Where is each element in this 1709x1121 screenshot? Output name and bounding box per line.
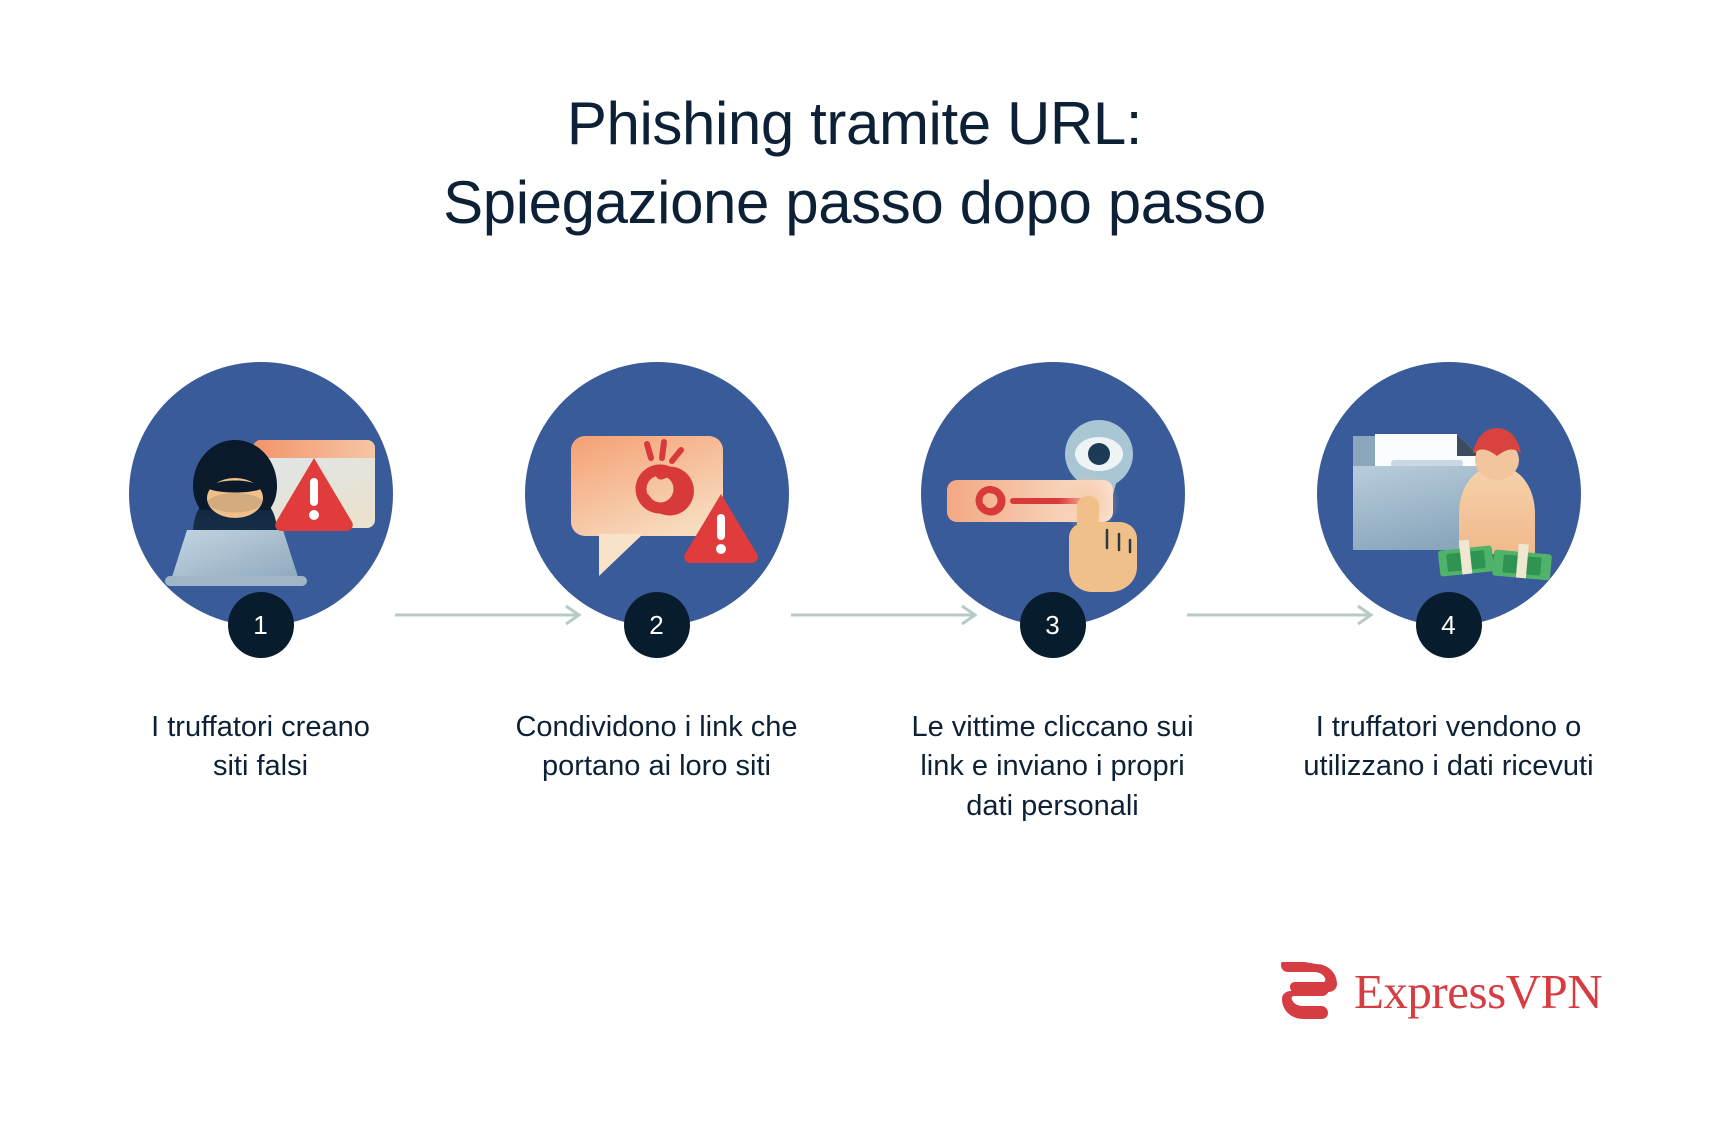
step-2: 2 Condividono i link che portano ai loro… <box>459 362 855 787</box>
expressvpn-logo-text: ExpressVPN <box>1354 967 1602 1016</box>
step-2-caption: Condividono i link che portano ai loro s… <box>472 708 842 787</box>
expressvpn-logo: ExpressVPN <box>1278 962 1602 1020</box>
step-1-caption: I truffatori creano siti falsi <box>76 708 446 787</box>
hacker-laptop-warning-icon <box>129 362 393 626</box>
url-bar-click-eye-icon <box>921 362 1185 626</box>
page-title: Phishing tramite URL: Spiegazione passo … <box>0 84 1709 242</box>
step-1-circle <box>129 362 393 626</box>
step-3-caption: Le vittime cliccano sui link e inviano i… <box>868 708 1238 826</box>
step-4-caption: I truffatori vendono o utilizzano i dati… <box>1264 708 1634 787</box>
step-4-badge: 4 <box>1416 592 1482 658</box>
step-3-badge: 3 <box>1020 592 1086 658</box>
step-3-circle <box>921 362 1185 626</box>
step-4-circle-wrap: 4 <box>1317 362 1581 626</box>
step-3-circle-wrap: 3 <box>921 362 1185 626</box>
step-4: 4 I truffatori vendono o utilizzano i da… <box>1251 362 1647 787</box>
step-3: 3 Le vittime cliccano sui link e inviano… <box>855 362 1251 826</box>
step-1-badge: 1 <box>228 592 294 658</box>
step-4-circle <box>1317 362 1581 626</box>
folder-thief-money-icon <box>1317 362 1581 626</box>
step-1-circle-wrap: 1 <box>129 362 393 626</box>
step-2-badge: 2 <box>624 592 690 658</box>
message-broken-link-warning-icon <box>525 362 789 626</box>
step-1: 1 I truffatori creano siti falsi <box>63 362 459 787</box>
step-2-circle-wrap: 2 <box>525 362 789 626</box>
steps-row: 1 I truffatori creano siti falsi <box>0 362 1709 826</box>
title-line-1: Phishing tramite URL: <box>0 84 1709 163</box>
expressvpn-e-mark-icon <box>1278 962 1340 1020</box>
title-line-2: Spiegazione passo dopo passo <box>0 163 1709 242</box>
step-2-circle <box>525 362 789 626</box>
